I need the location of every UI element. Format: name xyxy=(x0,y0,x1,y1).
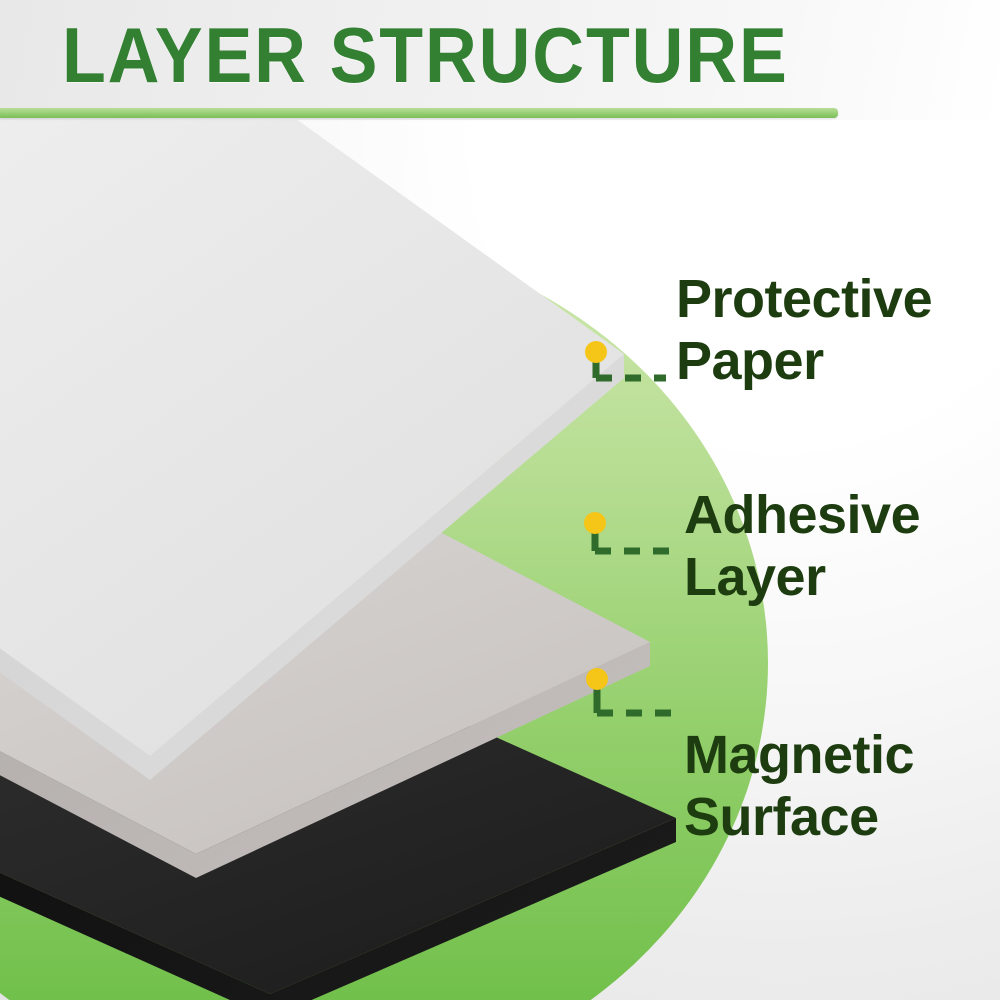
label-adhesive-layer: Adhesive Layer xyxy=(684,484,920,608)
page-title: LAYER STRUCTURE xyxy=(62,14,789,96)
infographic-canvas: LAYER STRUCTURE Protective Paper Adhesiv… xyxy=(0,0,1000,1000)
label-protective-paper: Protective Paper xyxy=(676,268,932,392)
title-underline-rule xyxy=(0,108,838,118)
label-magnetic-surface: Magnetic Surface xyxy=(684,724,914,848)
header-band: LAYER STRUCTURE xyxy=(0,0,1000,120)
